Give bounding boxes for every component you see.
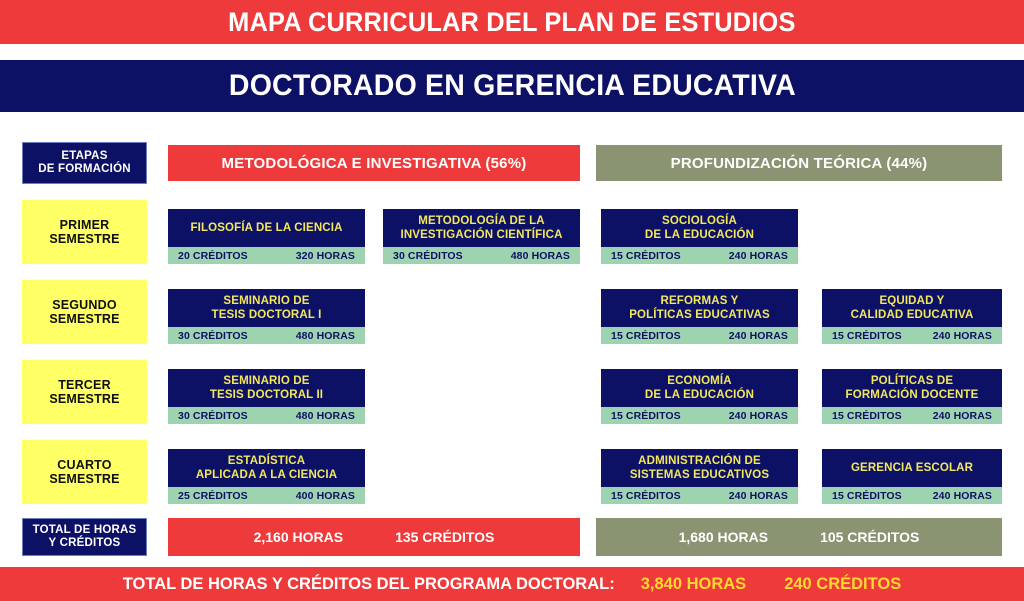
- course-card-sociologia-de-la-educacion[interactable]: SOCIOLOGÍA DE LA EDUCACIÓN 15 CRÉDITOS 2…: [601, 209, 798, 264]
- course-card-politicas-de-formacion-docente[interactable]: POLÍTICAS DE FORMACIÓN DOCENTE 15 CRÉDIT…: [822, 369, 1002, 424]
- course-hours: 320 HORAS: [296, 250, 355, 262]
- course-card-reformas-y-politicas-educativas[interactable]: REFORMAS Y POLÍTICAS EDUCATIVAS 15 CRÉDI…: [601, 289, 798, 344]
- course-card-administracion-de-sistemas-educativos[interactable]: ADMINISTRACIÓN DE SISTEMAS EDUCATIVOS 15…: [601, 449, 798, 504]
- semester-2-line1: SEGUNDO: [52, 298, 117, 312]
- course-credits-strip: 15 CRÉDITOS 240 HORAS: [601, 247, 798, 264]
- course-credits: 15 CRÉDITOS: [832, 490, 902, 502]
- totals-metodologica: 2,160 HORAS 135 CRÉDITOS: [168, 518, 580, 556]
- semester-row-2: SEGUNDO SEMESTRE SEMINARIO DE TESIS DOCT…: [0, 280, 1024, 346]
- course-name-line1: SEMINARIO DE: [223, 375, 309, 387]
- semester-label-cuarto: CUARTO SEMESTRE: [22, 440, 147, 504]
- main-title-bar: MAPA CURRICULAR DEL PLAN DE ESTUDIOS: [0, 0, 1024, 44]
- course-name-line2: DE LA EDUCACIÓN: [645, 389, 754, 401]
- course-card-filosofia-de-la-ciencia[interactable]: FILOSOFÍA DE LA CIENCIA 20 CRÉDITOS 320 …: [168, 209, 365, 264]
- semester-3-line1: TERCER: [58, 378, 111, 392]
- course-name-line1: EQUIDAD Y: [879, 295, 944, 307]
- course-hours: 400 HORAS: [296, 490, 355, 502]
- curriculum-map-page: MAPA CURRICULAR DEL PLAN DE ESTUDIOS DOC…: [0, 0, 1024, 601]
- stages-header-row: ETAPAS DE FORMACIÓN METODOLÓGICA E INVES…: [0, 142, 1024, 184]
- semester-label-segundo: SEGUNDO SEMESTRE: [22, 280, 147, 344]
- totals-label-line1: TOTAL DE HORAS: [33, 524, 137, 536]
- course-name: FILOSOFÍA DE LA CIENCIA: [168, 209, 365, 247]
- totals-label-line2: Y CRÉDITOS: [49, 537, 121, 549]
- course-card-seminario-de-tesis-doctoral-i[interactable]: SEMINARIO DE TESIS DOCTORAL I 30 CRÉDITO…: [168, 289, 365, 344]
- course-name-line2: FORMACIÓN DOCENTE: [846, 389, 979, 401]
- totals-profundizacion-credits: 105 CRÉDITOS: [820, 529, 919, 545]
- course-credits: 15 CRÉDITOS: [611, 490, 681, 502]
- course-name-line2: POLÍTICAS EDUCATIVAS: [629, 309, 770, 321]
- course-name-line1: GERENCIA ESCOLAR: [851, 462, 973, 474]
- course-credits-strip: 15 CRÉDITOS 240 HORAS: [822, 487, 1002, 504]
- course-name-line1: POLÍTICAS DE: [871, 375, 953, 387]
- course-name: METODOLOGÍA DE LA INVESTIGACIÓN CIENTÍFI…: [383, 209, 580, 247]
- program-totals-footer: TOTAL DE HORAS Y CRÉDITOS DEL PROGRAMA D…: [0, 567, 1024, 601]
- semester-row-1: PRIMER SEMESTRE FILOSOFÍA DE LA CIENCIA …: [0, 200, 1024, 266]
- course-card-metodologia-de-la-investigacion-cientifica[interactable]: METODOLOGÍA DE LA INVESTIGACIÓN CIENTÍFI…: [383, 209, 580, 264]
- program-title: DOCTORADO EN GERENCIA EDUCATIVA: [229, 69, 796, 103]
- semester-1-line2: SEMESTRE: [49, 232, 119, 246]
- course-name: EQUIDAD Y CALIDAD EDUCATIVA: [822, 289, 1002, 327]
- semester-label-primer: PRIMER SEMESTRE: [22, 200, 147, 264]
- program-title-bar: DOCTORADO EN GERENCIA EDUCATIVA: [0, 60, 1024, 112]
- course-name-line1: ESTADÍSTICA: [228, 455, 305, 467]
- course-name-line1: ECONOMÍA: [667, 375, 731, 387]
- course-credits-strip: 15 CRÉDITOS 240 HORAS: [601, 407, 798, 424]
- course-name-line1: METODOLOGÍA DE LA: [418, 215, 545, 227]
- course-card-economia-de-la-educacion[interactable]: ECONOMÍA DE LA EDUCACIÓN 15 CRÉDITOS 240…: [601, 369, 798, 424]
- course-name: SEMINARIO DE TESIS DOCTORAL II: [168, 369, 365, 407]
- stage-banner-profundizacion: PROFUNDIZACIÓN TEÓRICA (44%): [596, 145, 1002, 181]
- course-credits-strip: 15 CRÉDITOS 240 HORAS: [822, 407, 1002, 424]
- course-name: ESTADÍSTICA APLICADA A LA CIENCIA: [168, 449, 365, 487]
- course-credits-strip: 15 CRÉDITOS 240 HORAS: [601, 487, 798, 504]
- totals-metodologica-credits: 135 CRÉDITOS: [395, 529, 494, 545]
- course-credits: 15 CRÉDITOS: [832, 410, 902, 422]
- course-name-line1: REFORMAS Y: [661, 295, 739, 307]
- course-hours: 240 HORAS: [729, 250, 788, 262]
- course-credits: 20 CRÉDITOS: [178, 250, 248, 262]
- course-card-estadistica-aplicada-a-la-ciencia[interactable]: ESTADÍSTICA APLICADA A LA CIENCIA 25 CRÉ…: [168, 449, 365, 504]
- course-name-line1: SEMINARIO DE: [223, 295, 309, 307]
- course-name-line2: TESIS DOCTORAL II: [210, 389, 323, 401]
- course-credits-strip: 20 CRÉDITOS 320 HORAS: [168, 247, 365, 264]
- course-card-gerencia-escolar[interactable]: GERENCIA ESCOLAR 15 CRÉDITOS 240 HORAS: [822, 449, 1002, 504]
- course-credits-strip: 30 CRÉDITOS 480 HORAS: [168, 407, 365, 424]
- totals-profundizacion: 1,680 HORAS 105 CRÉDITOS: [596, 518, 1002, 556]
- totals-row-label: TOTAL DE HORAS Y CRÉDITOS: [22, 518, 147, 556]
- totals-row: TOTAL DE HORAS Y CRÉDITOS 2,160 HORAS 13…: [0, 516, 1024, 560]
- course-credits: 15 CRÉDITOS: [832, 330, 902, 342]
- course-name-line2: SISTEMAS EDUCATIVOS: [630, 469, 769, 481]
- course-name-line1: ADMINISTRACIÓN DE: [638, 455, 761, 467]
- course-hours: 480 HORAS: [296, 410, 355, 422]
- page-title: MAPA CURRICULAR DEL PLAN DE ESTUDIOS: [228, 7, 795, 38]
- etapas-de-formacion-label: ETAPAS DE FORMACIÓN: [22, 142, 147, 184]
- etapas-label-line1: ETAPAS: [61, 150, 107, 162]
- course-hours: 240 HORAS: [729, 490, 788, 502]
- semester-4-line2: SEMESTRE: [49, 472, 119, 486]
- course-name-line1: SOCIOLOGÍA: [662, 215, 737, 227]
- course-credits: 30 CRÉDITOS: [178, 330, 248, 342]
- semester-1-line1: PRIMER: [60, 218, 110, 232]
- course-credits-strip: 25 CRÉDITOS 400 HORAS: [168, 487, 365, 504]
- course-credits: 30 CRÉDITOS: [178, 410, 248, 422]
- course-hours: 240 HORAS: [933, 330, 992, 342]
- semester-row-3: TERCER SEMESTRE SEMINARIO DE TESIS DOCTO…: [0, 360, 1024, 426]
- course-name: POLÍTICAS DE FORMACIÓN DOCENTE: [822, 369, 1002, 407]
- semester-label-tercer: TERCER SEMESTRE: [22, 360, 147, 424]
- course-hours: 480 HORAS: [511, 250, 570, 262]
- course-name-line2: TESIS DOCTORAL I: [212, 309, 322, 321]
- course-credits: 30 CRÉDITOS: [393, 250, 463, 262]
- semester-row-4: CUARTO SEMESTRE ESTADÍSTICA APLICADA A L…: [0, 440, 1024, 506]
- course-name: SOCIOLOGÍA DE LA EDUCACIÓN: [601, 209, 798, 247]
- semester-4-line1: CUARTO: [57, 458, 111, 472]
- course-card-seminario-de-tesis-doctoral-ii[interactable]: SEMINARIO DE TESIS DOCTORAL II 30 CRÉDIT…: [168, 369, 365, 424]
- course-credits-strip: 30 CRÉDITOS 480 HORAS: [168, 327, 365, 344]
- semester-3-line2: SEMESTRE: [49, 392, 119, 406]
- course-name-line2: INVESTIGACIÓN CIENTÍFICA: [400, 229, 562, 241]
- course-name: REFORMAS Y POLÍTICAS EDUCATIVAS: [601, 289, 798, 327]
- course-credits: 25 CRÉDITOS: [178, 490, 248, 502]
- footer-total-credits: 240 CRÉDITOS: [784, 575, 901, 594]
- course-name-line1: FILOSOFÍA DE LA CIENCIA: [190, 222, 342, 234]
- course-hours: 240 HORAS: [729, 410, 788, 422]
- course-credits: 15 CRÉDITOS: [611, 410, 681, 422]
- semester-2-line2: SEMESTRE: [49, 312, 119, 326]
- course-hours: 240 HORAS: [933, 490, 992, 502]
- footer-label: TOTAL DE HORAS Y CRÉDITOS DEL PROGRAMA D…: [123, 575, 615, 594]
- course-credits-strip: 30 CRÉDITOS 480 HORAS: [383, 247, 580, 264]
- course-credits-strip: 15 CRÉDITOS 240 HORAS: [822, 327, 1002, 344]
- course-name: SEMINARIO DE TESIS DOCTORAL I: [168, 289, 365, 327]
- course-name-line2: DE LA EDUCACIÓN: [645, 229, 754, 241]
- stage-banner-metodologica: METODOLÓGICA E INVESTIGATIVA (56%): [168, 145, 580, 181]
- stage-profundizacion-label: PROFUNDIZACIÓN TEÓRICA (44%): [671, 155, 928, 172]
- totals-metodologica-hours: 2,160 HORAS: [254, 529, 343, 545]
- course-name-line2: APLICADA A LA CIENCIA: [196, 469, 337, 481]
- course-name: ADMINISTRACIÓN DE SISTEMAS EDUCATIVOS: [601, 449, 798, 487]
- course-hours: 480 HORAS: [296, 330, 355, 342]
- footer-total-hours: 3,840 HORAS: [641, 575, 746, 594]
- course-credits-strip: 15 CRÉDITOS 240 HORAS: [601, 327, 798, 344]
- curriculum-grid: ETAPAS DE FORMACIÓN METODOLÓGICA E INVES…: [0, 112, 1024, 565]
- course-card-equidad-y-calidad-educativa[interactable]: EQUIDAD Y CALIDAD EDUCATIVA 15 CRÉDITOS …: [822, 289, 1002, 344]
- course-hours: 240 HORAS: [933, 410, 992, 422]
- course-hours: 240 HORAS: [729, 330, 788, 342]
- totals-profundizacion-hours: 1,680 HORAS: [679, 529, 768, 545]
- course-credits: 15 CRÉDITOS: [611, 250, 681, 262]
- course-name: GERENCIA ESCOLAR: [822, 449, 1002, 487]
- course-name: ECONOMÍA DE LA EDUCACIÓN: [601, 369, 798, 407]
- etapas-label-line2: DE FORMACIÓN: [38, 163, 130, 175]
- course-credits: 15 CRÉDITOS: [611, 330, 681, 342]
- stage-metodologica-label: METODOLÓGICA E INVESTIGATIVA (56%): [222, 155, 527, 172]
- course-name-line2: CALIDAD EDUCATIVA: [851, 309, 974, 321]
